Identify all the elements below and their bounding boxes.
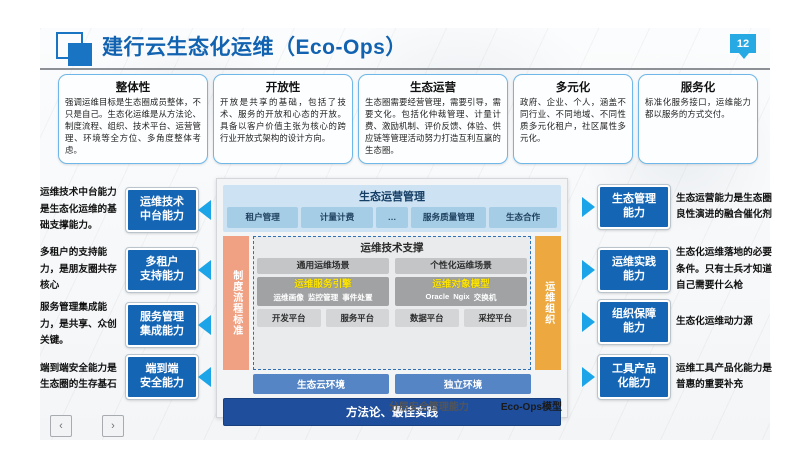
scene-box-general[interactable]: 通用运维场景 (257, 258, 389, 274)
engine-sub: 事件处置 (342, 292, 372, 303)
ecosystem-operations-band: 生态运营管理 租户管理 计量计费 … 服务质量管理 生态合作 (223, 185, 561, 232)
chip-line-2: 化能力 (618, 377, 651, 391)
concept-card-body: 标准化服务接口，运维能力都以服务的方式交付。 (645, 97, 751, 121)
chip-line-1: 端到端 (146, 363, 179, 377)
arrow-right-icon (578, 197, 598, 217)
right-capability-item[interactable]: 工具产品 化能力 运维工具产品化能力是普惠的重要补充 (578, 355, 772, 399)
right-capability-item[interactable]: 组织保障 能力 生态化运维动力源 (578, 300, 772, 344)
eco-ops-model-diagram: 生态运营管理 租户管理 计量计费 … 服务质量管理 生态合作 制度流程标准 运维… (216, 178, 568, 418)
arrow-right-icon (578, 312, 598, 332)
ecosystem-operations-boxes: 租户管理 计量计费 … 服务质量管理 生态合作 (227, 207, 557, 228)
chip-line-1: 工具产品 (612, 363, 656, 377)
right-capability-chip[interactable]: 生态管理 能力 (598, 185, 670, 229)
platform-box-control[interactable]: 采控平台 (464, 309, 528, 327)
prev-slide-button[interactable]: ‹ (50, 415, 72, 437)
ops-box-more[interactable]: … (376, 207, 409, 228)
arrow-right-icon (578, 260, 598, 280)
concept-card-title: 服务化 (645, 79, 751, 95)
ops-box-ecosystem-cooperation[interactable]: 生态合作 (489, 207, 557, 228)
chip-line-2: 支持能力 (140, 270, 184, 284)
slide-canvas: 建行云生态化运维（Eco-Ops） 12 整体性 强调运维目标是生态圈成员整体，… (0, 0, 800, 469)
left-capability-chip[interactable]: 端到端 安全能力 (126, 355, 198, 399)
concept-card-title: 多元化 (520, 79, 626, 95)
ops-box-billing[interactable]: 计量计费 (301, 207, 372, 228)
concept-card-body: 开放是共享的基础，包括了技术、服务的开放和心态的开放。具备以客户价值主张为核心的… (220, 97, 346, 145)
platform-box-dev[interactable]: 开发平台 (257, 309, 321, 327)
left-capability-item[interactable]: 多租户的支持能力，是朋友圈共存核心 多租户 支持能力 (40, 245, 218, 295)
engine-sub-list: Oracle Ngix 交换机 (398, 292, 524, 303)
chip-line-2: 安全能力 (140, 377, 184, 391)
engine-row: 运维服务引擎 运维画像 监控管理 事件处置 运维对象模型 Oracle Ngix… (257, 277, 527, 307)
chip-line-1: 运维实践 (612, 256, 656, 270)
engine-title: 运维服务引擎 (260, 279, 386, 291)
engine-sub: 监控管理 (308, 292, 338, 303)
left-capability-text: 多租户的支持能力，是朋友圈共存核心 (40, 245, 126, 295)
model-caption-row: 分层安全管理能力 Eco-Ops模型 (216, 398, 568, 413)
concept-card: 服务化 标准化服务接口，运维能力都以服务的方式交付。 (638, 74, 758, 164)
arrow-left-icon (198, 367, 218, 387)
arrow-right-icon (578, 367, 598, 387)
concept-card: 整体性 强调运维目标是生态圈成员整体，不只是自己。生态化运维是从方法论、制度流程… (58, 74, 208, 164)
left-capability-item[interactable]: 服务管理集成能力，是共享、众创关键。 服务管理 集成能力 (40, 300, 218, 350)
slide-navigation: ‹ › (50, 415, 124, 437)
logo-square-solid-icon (68, 43, 92, 66)
platform-group-left: 开发平台 服务平台 (257, 309, 389, 327)
caption-eco-ops-model: Eco-Ops模型 (501, 398, 562, 413)
concept-card: 多元化 政府、企业、个人，涵盖不同行业、不同地域、不同性质多元化租户，社区属性多… (513, 74, 633, 164)
concept-card-body: 强调运维目标是生态圈成员整体，不只是自己。生态化运维是从方法论、制度流程、组织、… (65, 97, 201, 157)
chip-line-2: 能力 (623, 270, 645, 284)
engine-sub-list: 运维画像 监控管理 事件处置 (260, 292, 386, 303)
right-capability-chip[interactable]: 运维实践 能力 (598, 248, 670, 292)
chip-line-2: 集成能力 (140, 325, 184, 339)
chip-line-2: 能力 (623, 322, 645, 336)
tech-support-container: 运维技术支撑 通用运维场景 个性化运维场景 运维服务引擎 运维画像 监控管理 事… (253, 236, 531, 370)
left-capability-text: 运维技术中台能力是生态化运维的基础支撑能力。 (40, 185, 126, 235)
right-capability-item[interactable]: 生态管理 能力 生态运营能力是生态圈良性演进的融合催化剂 (578, 185, 772, 229)
concept-card-title: 生态运营 (365, 79, 501, 95)
right-capability-chip[interactable]: 工具产品 化能力 (598, 355, 670, 399)
environment-row: 生态云环境 独立环境 (253, 374, 531, 394)
engine-box-service[interactable]: 运维服务引擎 运维画像 监控管理 事件处置 (257, 277, 389, 307)
right-capability-chip[interactable]: 组织保障 能力 (598, 300, 670, 344)
concept-card-body: 政府、企业、个人，涵盖不同行业、不同地域、不同性质多元化租户，社区属性多元化。 (520, 97, 626, 145)
right-capability-item[interactable]: 运维实践 能力 生态化运维落地的必要条件。只有士兵才知道自己需要什么枪 (578, 245, 772, 295)
platform-group-right: 数据平台 采控平台 (395, 309, 527, 327)
left-capability-chip[interactable]: 多租户 支持能力 (126, 248, 198, 292)
platform-box-service[interactable]: 服务平台 (326, 309, 390, 327)
chip-line-1: 服务管理 (140, 311, 184, 325)
left-capability-item[interactable]: 运维技术中台能力是生态化运维的基础支撑能力。 运维技术 中台能力 (40, 185, 218, 235)
platform-row: 开发平台 服务平台 数据平台 采控平台 (257, 309, 527, 327)
page-number-badge: 12 (730, 34, 756, 53)
env-box-eco-cloud[interactable]: 生态云环境 (253, 374, 389, 394)
chip-line-1: 生态管理 (612, 193, 656, 207)
env-box-standalone[interactable]: 独立环境 (395, 374, 531, 394)
platform-box-data[interactable]: 数据平台 (395, 309, 459, 327)
vertical-bar-organization: 运维组织 (535, 236, 561, 370)
left-capability-chip[interactable]: 服务管理 集成能力 (126, 303, 198, 347)
concept-card-body: 生态圈需要经营管理，需要引导，需要文化。包括化仲裁管理、计量计费、激励机制、评价… (365, 97, 501, 157)
arrow-left-icon (198, 200, 218, 220)
chip-line-1: 多租户 (146, 256, 179, 270)
engine-sub: Ngix (453, 292, 469, 303)
page-title: 建行云生态化运维（Eco-Ops） (102, 31, 407, 61)
vertical-bar-standards: 制度流程标准 (223, 236, 249, 370)
concept-card: 开放性 开放是共享的基础，包括了技术、服务的开放和心态的开放。具备以客户价值主张… (213, 74, 353, 164)
chip-line-2: 中台能力 (140, 210, 184, 224)
ops-box-service-quality[interactable]: 服务质量管理 (411, 207, 486, 228)
chip-line-1: 组织保障 (612, 308, 656, 322)
chip-line-2: 能力 (623, 207, 645, 221)
left-capability-chip[interactable]: 运维技术 中台能力 (126, 188, 198, 232)
engine-box-object-model[interactable]: 运维对象模型 Oracle Ngix 交换机 (395, 277, 527, 307)
left-capability-text: 端到端安全能力是生态圈的生存基石 (40, 361, 126, 394)
left-capability-text: 服务管理集成能力，是共享、众创关键。 (40, 300, 126, 350)
right-capability-text: 生态化运维落地的必要条件。只有士兵才知道自己需要什么枪 (676, 245, 772, 295)
engine-sub: 交换机 (474, 292, 497, 303)
next-slide-button[interactable]: › (102, 415, 124, 437)
tech-support-title: 运维技术支撑 (257, 240, 527, 255)
engine-title: 运维对象模型 (398, 279, 524, 291)
ecosystem-operations-title: 生态运营管理 (227, 188, 557, 204)
right-capability-text: 生态运营能力是生态圈良性演进的融合催化剂 (676, 191, 772, 224)
engine-sub: 运维画像 (273, 292, 303, 303)
concept-card-title: 整体性 (65, 79, 201, 95)
engine-sub: Oracle (426, 292, 450, 303)
left-capability-item[interactable]: 端到端安全能力是生态圈的生存基石 端到端 安全能力 (40, 355, 218, 399)
right-capability-text: 生态化运维动力源 (676, 314, 772, 331)
concept-card-row: 整体性 强调运维目标是生态圈成员整体，不只是自己。生态化运维是从方法论、制度流程… (58, 74, 758, 164)
chip-line-1: 运维技术 (140, 196, 184, 210)
caption-layered-security: 分层安全管理能力 (389, 398, 469, 413)
model-middle-row: 制度流程标准 运维技术支撑 通用运维场景 个性化运维场景 运维服务引擎 运维画像… (223, 236, 561, 370)
arrow-left-icon (198, 260, 218, 280)
scene-row: 通用运维场景 个性化运维场景 (257, 258, 527, 274)
scene-box-custom[interactable]: 个性化运维场景 (395, 258, 527, 274)
right-capability-text: 运维工具产品化能力是普惠的重要补充 (676, 361, 772, 394)
arrow-left-icon (198, 315, 218, 335)
slide-header: 建行云生态化运维（Eco-Ops） 12 (40, 28, 770, 70)
concept-card: 生态运营 生态圈需要经营管理，需要引导，需要文化。包括化仲裁管理、计量计费、激励… (358, 74, 508, 164)
concept-card-title: 开放性 (220, 79, 346, 95)
ops-box-tenant[interactable]: 租户管理 (227, 207, 298, 228)
